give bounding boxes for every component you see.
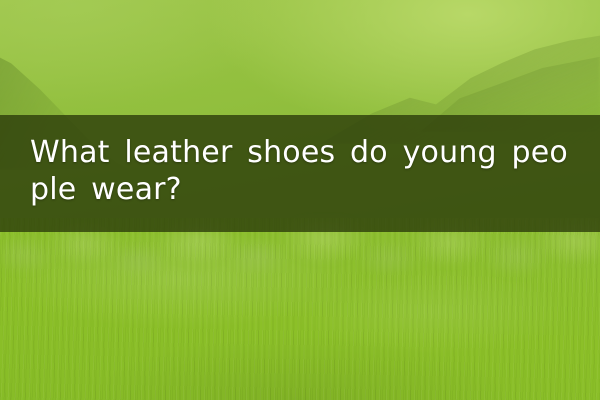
field-lighting-overlay: [0, 218, 600, 400]
caption-title: What leather shoes do young peo ple wear…: [30, 134, 586, 208]
grass-field-layer: [0, 218, 600, 400]
question-card: What leather shoes do young peo ple wear…: [0, 0, 600, 400]
caption-band: What leather shoes do young peo ple wear…: [0, 115, 600, 232]
